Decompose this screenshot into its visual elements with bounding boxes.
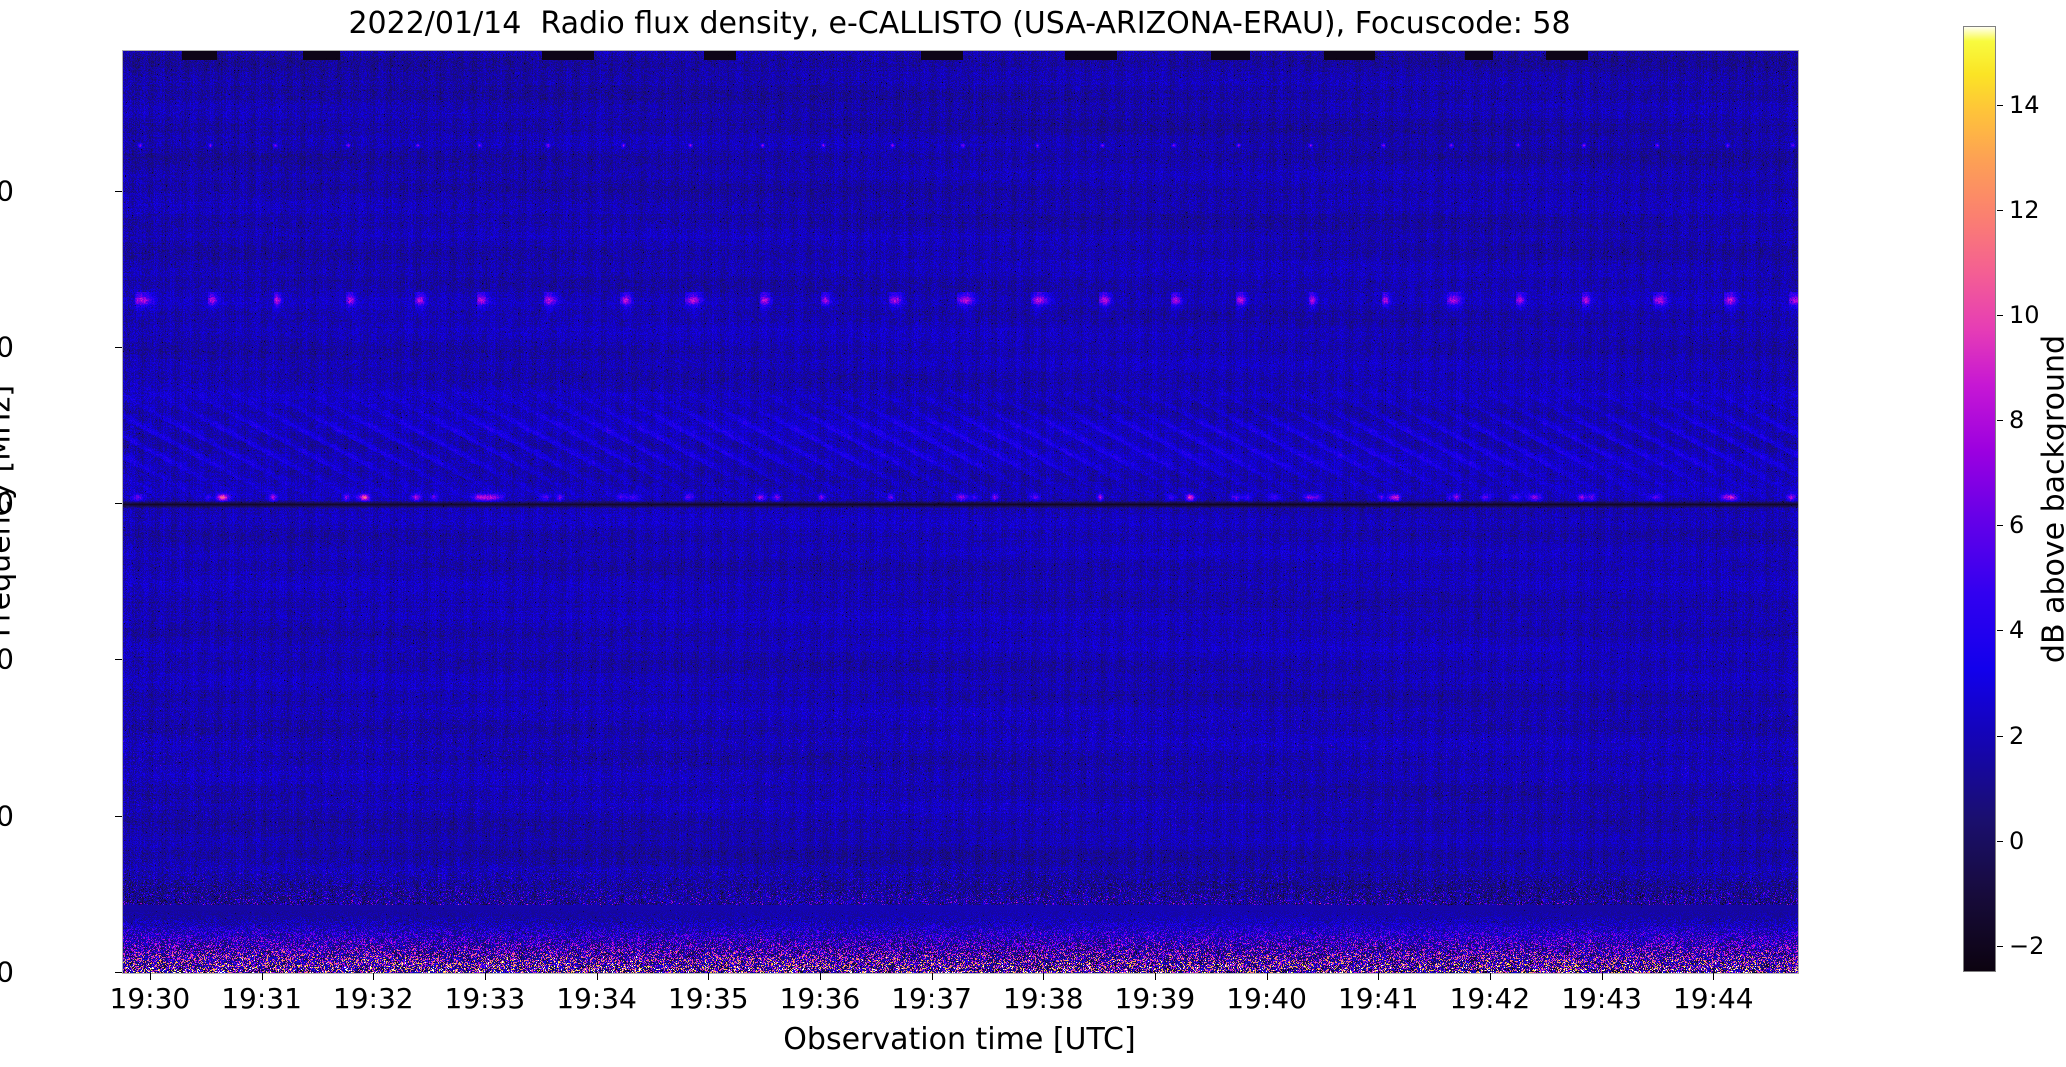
colorbar-tick-label: 6 — [2009, 511, 2024, 539]
x-axis-tick-label: 19:44 — [1673, 982, 1754, 1015]
x-axis-tick-label: 19:36 — [780, 982, 861, 1015]
colorbar-tick-mark — [1997, 105, 2003, 106]
x-axis-tick-mark — [262, 973, 263, 980]
colorbar-tick-mark — [1997, 946, 2003, 947]
x-axis-tick-mark — [1602, 973, 1603, 980]
x-axis-tick-label: 19:35 — [668, 982, 749, 1015]
x-axis-tick-mark — [1490, 973, 1491, 980]
y-axis-tick-mark — [115, 972, 122, 973]
x-axis-tick-label: 19:40 — [1226, 982, 1307, 1015]
y-axis-tick-mark — [115, 816, 122, 817]
x-axis-tick-label: 19:41 — [1338, 982, 1419, 1015]
colorbar[interactable] — [1963, 26, 1996, 972]
x-axis-tick-mark — [820, 973, 821, 980]
colorbar-tick-label: 2 — [2009, 722, 2024, 750]
y-axis-tick-label: 250 — [0, 643, 14, 676]
colorbar-label: dB above background — [2037, 335, 2066, 663]
colorbar-tick-label: 8 — [2009, 406, 2024, 434]
x-axis-tick-mark — [150, 973, 151, 980]
x-axis-tick-label: 19:37 — [891, 982, 972, 1015]
spectrogram-axes[interactable] — [122, 50, 1799, 974]
x-axis-tick-mark — [373, 973, 374, 980]
x-axis-tick-mark — [597, 973, 598, 980]
colorbar-tick-mark — [1997, 315, 2003, 316]
colorbar-tick-mark — [1997, 630, 2003, 631]
x-axis-tick-label: 19:42 — [1450, 982, 1531, 1015]
figure-canvas: 2022/01/14 Radio flux density, e-CALLIST… — [0, 0, 2066, 1067]
y-axis-tick-label: 350 — [0, 330, 14, 363]
y-axis-tick-mark — [115, 191, 122, 192]
colorbar-tick-mark — [1997, 736, 2003, 737]
y-axis-tick-mark — [115, 503, 122, 504]
colorbar-gradient — [1963, 26, 1996, 972]
y-axis-tick-mark — [115, 659, 122, 660]
x-axis-tick-label: 19:32 — [333, 982, 414, 1015]
y-axis-tick-label: 150 — [0, 956, 14, 989]
colorbar-tick-label: 14 — [2009, 91, 2040, 119]
colorbar-tick-mark — [1997, 210, 2003, 211]
x-axis-tick-mark — [1267, 973, 1268, 980]
colorbar-tick-mark — [1997, 420, 2003, 421]
y-axis-tick-label: 300 — [0, 487, 14, 520]
x-axis-tick-label: 19:38 — [1003, 982, 1084, 1015]
x-axis-tick-mark — [1043, 973, 1044, 980]
colorbar-tick-label: 12 — [2009, 196, 2040, 224]
x-axis-tick-mark — [485, 973, 486, 980]
x-axis-label: Observation time [UTC] — [122, 1022, 1797, 1057]
x-axis-tick-mark — [1713, 973, 1714, 980]
colorbar-tick-label: 10 — [2009, 301, 2040, 329]
spectrogram-image[interactable] — [123, 51, 1798, 973]
colorbar-tick-label: −2 — [2009, 932, 2044, 960]
page-title: 2022/01/14 Radio flux density, e-CALLIST… — [122, 4, 1797, 44]
colorbar-tick-mark — [1997, 841, 2003, 842]
x-axis-tick-label: 19:34 — [556, 982, 637, 1015]
colorbar-tick-mark — [1997, 525, 2003, 526]
x-axis-tick-mark — [708, 973, 709, 980]
colorbar-tick-label: 0 — [2009, 827, 2024, 855]
x-axis-tick-label: 19:30 — [110, 982, 191, 1015]
x-axis-tick-label: 19:31 — [221, 982, 302, 1015]
x-axis-tick-label: 19:33 — [445, 982, 526, 1015]
x-axis-tick-mark — [932, 973, 933, 980]
y-axis-tick-label: 400 — [0, 174, 14, 207]
x-axis-tick-mark — [1155, 973, 1156, 980]
y-axis-tick-label: 200 — [0, 799, 14, 832]
x-axis-tick-label: 19:39 — [1115, 982, 1196, 1015]
colorbar-tick-label: 4 — [2009, 616, 2024, 644]
x-axis-tick-label: 19:43 — [1561, 982, 1642, 1015]
x-axis-tick-mark — [1378, 973, 1379, 980]
y-axis-tick-mark — [115, 347, 122, 348]
